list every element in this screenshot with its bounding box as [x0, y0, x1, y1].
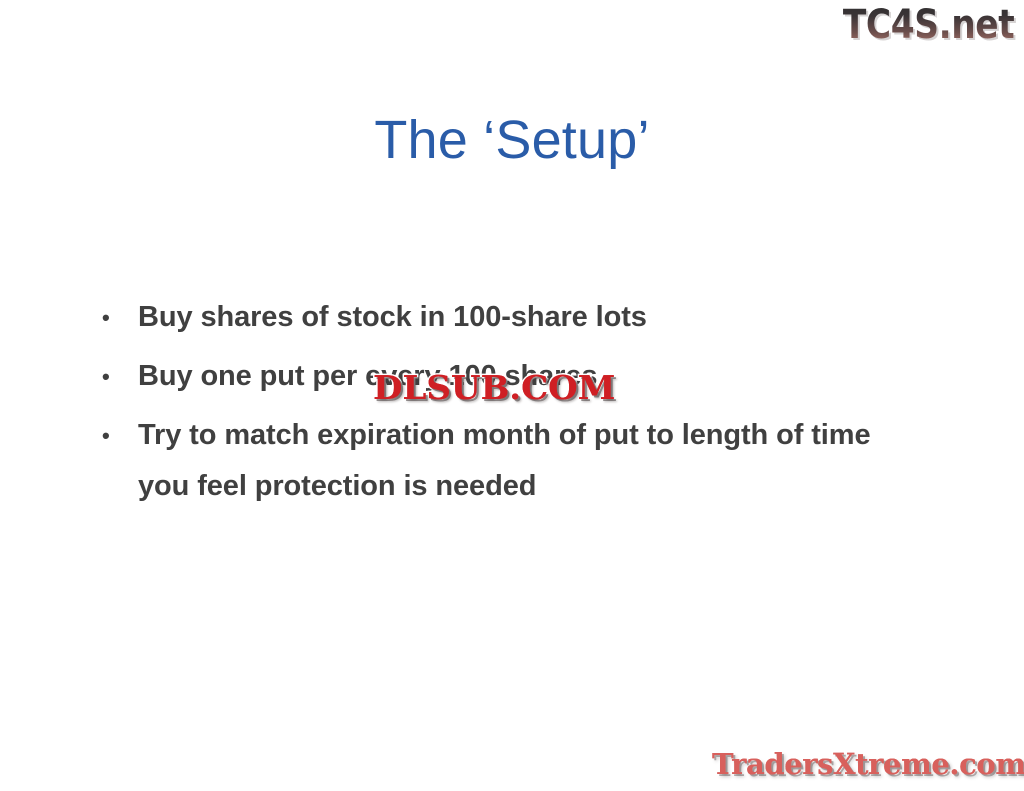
list-item: Try to match expiration month of put to …	[98, 410, 918, 512]
presentation-slide: TC4S.net TC4S.net The ‘Setup’ Buy shares…	[0, 0, 1024, 791]
page-title: The ‘Setup’	[0, 108, 1024, 172]
dlsub-watermark: DLSUB.COM	[373, 369, 615, 406]
brand-logo-container: TradersXtreme.com TradersXtreme.com	[712, 745, 1018, 785]
list-item: Buy shares of stock in 100-share lots	[98, 292, 918, 343]
tradersxtreme-brand-logo: TradersXtreme.com	[712, 745, 1024, 783]
tc4s-site-logo: TC4S.net	[843, 2, 1014, 48]
